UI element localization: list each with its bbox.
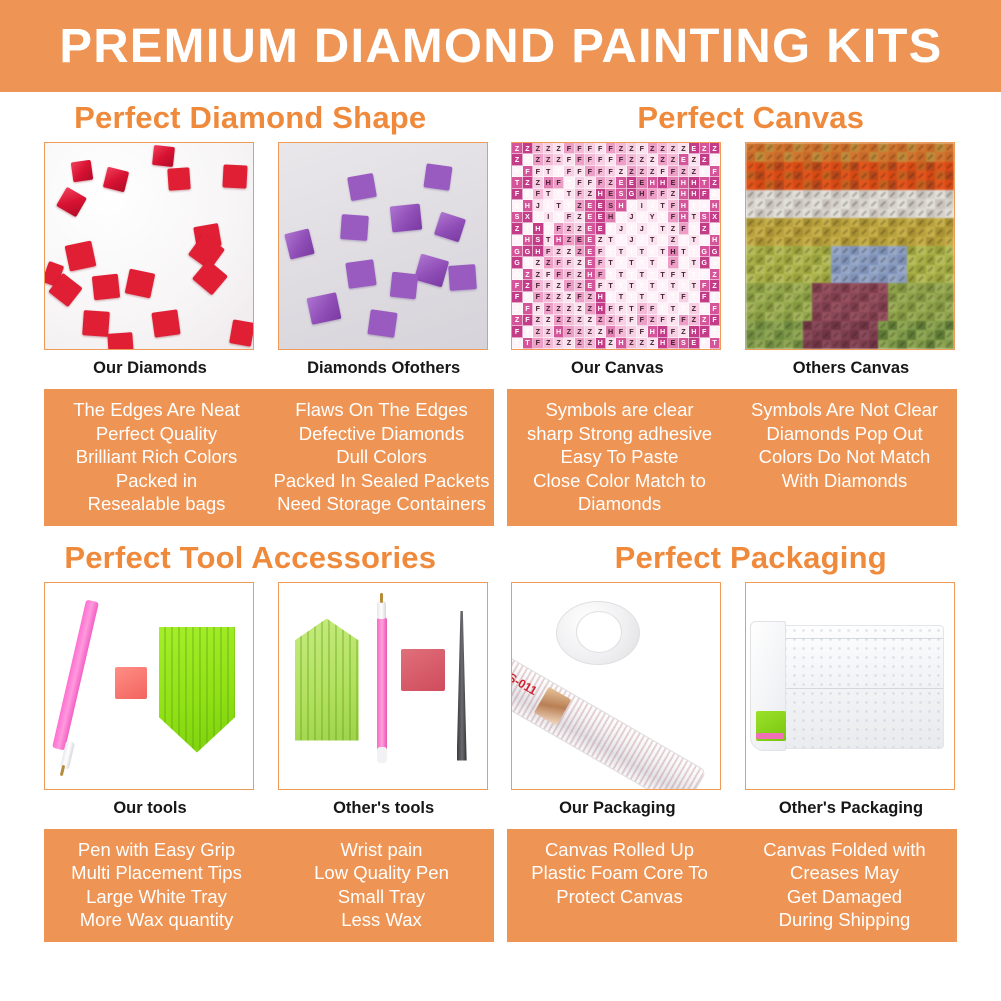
- blurry-canvas-cell: [822, 171, 831, 180]
- blurry-canvas-cell: [888, 330, 897, 339]
- folded-contents-pen: [756, 733, 784, 739]
- blurry-canvas-cell: [945, 321, 954, 330]
- canvas-symbol-cell: F: [523, 315, 533, 326]
- canvas-symbol-cell: E: [585, 200, 595, 211]
- comparison-images-row-2: Our tools Other's tools S-011 Our Packa: [0, 582, 1001, 818]
- blurry-canvas-cell: [746, 237, 755, 246]
- panel-line: Diamonds Pop Out: [734, 422, 955, 446]
- canvas-symbol-cell: F: [564, 143, 574, 154]
- canvas-symbol-cell: F: [596, 177, 606, 188]
- canvas-symbol-cell: Z: [544, 315, 554, 326]
- bubble-mailer-envelope: [762, 625, 944, 749]
- canvas-symbol-cell: Z: [512, 223, 522, 234]
- blurry-canvas-cell: [822, 152, 831, 161]
- blurry-canvas-cell: [907, 302, 916, 311]
- blurry-canvas-cell: [793, 274, 802, 283]
- canvas-symbol-cell: H: [554, 326, 564, 337]
- card-other-tools: Other's tools: [278, 582, 490, 818]
- canvas-symbol-cell: F: [637, 143, 647, 154]
- bubble-wrap-texture: [763, 626, 943, 748]
- canvas-symbol-cell: Z: [554, 154, 564, 165]
- canvas-symbol-cell: Z: [658, 154, 668, 165]
- canvas-symbol-cell: T: [554, 166, 564, 177]
- canvas-symbol-cell: Z: [544, 257, 554, 268]
- blurry-canvas-cell: [869, 283, 878, 292]
- blurry-canvas-cell: [793, 171, 802, 180]
- blurry-canvas-cell: [945, 255, 954, 264]
- canvas-symbol-cell: H: [606, 326, 616, 337]
- blurry-canvas-cell: [888, 227, 897, 236]
- blurry-canvas-cell: [793, 162, 802, 171]
- panel-line: Multi Placement Tips: [46, 861, 267, 885]
- canvas-symbol-cell: Z: [668, 143, 678, 154]
- canvas-symbol-cell: Z: [512, 315, 522, 326]
- canvas-symbol-cell: Z: [544, 154, 554, 165]
- canvas-symbol-cell: E: [627, 177, 637, 188]
- canvas-symbol-cell: J: [627, 235, 637, 246]
- blurry-canvas-cell: [878, 255, 887, 264]
- canvas-symbol-cell: Z: [689, 315, 699, 326]
- blurry-canvas-cell: [869, 227, 878, 236]
- canvas-symbol-cell: Z: [627, 143, 637, 154]
- blurry-canvas-cell: [935, 190, 944, 199]
- canvas-symbol-cell: Z: [606, 177, 616, 188]
- blurry-canvas-cell: [869, 321, 878, 330]
- blurry-canvas-cell: [765, 143, 774, 152]
- blurry-canvas-cell: [812, 255, 821, 264]
- page-header-banner: PREMIUM DIAMOND PAINTING KITS: [0, 0, 1001, 92]
- canvas-symbol-cell: E: [585, 235, 595, 246]
- blurry-canvas-cell: [755, 321, 764, 330]
- blurry-canvas-cell: [916, 152, 925, 161]
- blurry-canvas-cell: [859, 330, 868, 339]
- canvas-symbol-cell: H: [585, 269, 595, 280]
- blurry-canvas-cell: [897, 199, 906, 208]
- blurry-canvas-cell: [755, 246, 764, 255]
- canvas-symbol-cell: T: [544, 235, 554, 246]
- canvas-symbol-cell: Z: [554, 292, 564, 303]
- blurry-canvas-cell: [765, 302, 774, 311]
- canvas-symbol-cell: Z: [710, 143, 720, 154]
- canvas-symbol-cell: E: [585, 212, 595, 223]
- blurry-canvas-cell: [907, 321, 916, 330]
- canvas-symbol-cell: F: [627, 326, 637, 337]
- canvas-symbol-cell: Z: [627, 338, 637, 349]
- blurry-canvas-cell: [793, 209, 802, 218]
- canvas-symbol-cell: H: [596, 292, 606, 303]
- blurry-canvas-cell: [859, 293, 868, 302]
- canvas-symbol-cell: T: [689, 292, 699, 303]
- blurry-canvas-cell: [765, 227, 774, 236]
- blurry-canvas-cell: [878, 171, 887, 180]
- section-title-tool-accessories: Perfect Tool Accessories: [0, 540, 501, 576]
- blurry-canvas-cell: [859, 209, 868, 218]
- blurry-canvas-cell: [793, 190, 802, 199]
- canvas-symbol-cell: T: [616, 269, 626, 280]
- blurry-canvas-cell: [926, 274, 935, 283]
- canvas-symbol-cell: T: [606, 269, 616, 280]
- canvas-symbol-cell: Z: [554, 303, 564, 314]
- blurry-canvas-cell: [841, 218, 850, 227]
- panel-packaging: Canvas Rolled UpPlastic Foam Core ToProt…: [507, 829, 957, 942]
- canvas-symbol-cell: F: [564, 154, 574, 165]
- canvas-symbol-cell: F: [616, 326, 626, 337]
- blurry-canvas-cell: [812, 237, 821, 246]
- canvas-symbol-cell: F: [596, 246, 606, 257]
- panel-line: With Diamonds: [734, 469, 955, 493]
- blurry-canvas-cell: [841, 274, 850, 283]
- canvas-symbol-cell: T: [616, 292, 626, 303]
- blurry-canvas-cell: [878, 321, 887, 330]
- canvas-symbol-cell: Z: [596, 326, 606, 337]
- canvas-symbol-cell: Z: [710, 269, 720, 280]
- canvas-symbol-cell: F: [606, 166, 616, 177]
- canvas-symbol-cell: Z: [648, 315, 658, 326]
- blurry-canvas-cell: [803, 302, 812, 311]
- blurry-canvas-cell: [850, 274, 859, 283]
- blurry-canvas-cell: [907, 180, 916, 189]
- canvas-symbol-cell: T: [637, 280, 647, 291]
- canvas-symbol-cell: E: [585, 280, 595, 291]
- canvas-symbol-cell: G: [512, 246, 522, 257]
- canvas-symbol-cell: Z: [575, 246, 585, 257]
- blurry-canvas-cell: [822, 255, 831, 264]
- canvas-symbol-cell: I: [544, 212, 554, 223]
- canvas-symbol-cell: T: [710, 338, 720, 349]
- blurry-canvas-cell: [812, 190, 821, 199]
- diamond-drill: [347, 173, 377, 201]
- canvas-symbol-cell: F: [544, 280, 554, 291]
- canvas-symbol-cell: G: [710, 246, 720, 257]
- canvas-symbol-cell: T: [627, 280, 637, 291]
- blurry-canvas-cell: [888, 171, 897, 180]
- blurry-canvas-cell: [831, 180, 840, 189]
- canvas-symbol-cell: T: [512, 235, 522, 246]
- panel-line: Defective Diamonds: [271, 422, 492, 446]
- canvas-symbol-cell: F: [564, 166, 574, 177]
- canvas-symbol-cell: Z: [700, 303, 710, 314]
- blurry-canvas-cell: [935, 312, 944, 321]
- blurry-canvas-cell: [822, 283, 831, 292]
- canvas-symbol-cell: E: [596, 200, 606, 211]
- blurry-canvas-cell: [765, 246, 774, 255]
- canvas-symbol-cell: T: [606, 235, 616, 246]
- canvas-symbol-cell: Y: [648, 212, 658, 223]
- blurry-canvas-cell: [935, 152, 944, 161]
- canvas-symbol-cell: G: [523, 246, 533, 257]
- canvas-symbol-cell: E: [689, 338, 699, 349]
- panel-line: Protect Canvas: [509, 885, 730, 909]
- blurry-canvas-cell: [888, 265, 897, 274]
- blurry-canvas-cell: [869, 312, 878, 321]
- blurry-canvas-cell: [812, 152, 821, 161]
- pink-drill-pen: [52, 599, 99, 750]
- blurry-canvas-cell: [841, 330, 850, 339]
- blurry-canvas-cell: [907, 218, 916, 227]
- canvas-symbol-cell: F: [512, 189, 522, 200]
- canvas-symbol-cell: Z: [554, 338, 564, 349]
- canvas-symbol-cell: F: [554, 223, 564, 234]
- canvas-symbol-cell: F: [710, 315, 720, 326]
- canvas-symbol-cell: F: [668, 212, 678, 223]
- blurry-canvas-cell: [935, 143, 944, 152]
- blurry-canvas-cell: [897, 143, 906, 152]
- canvas-symbol-cell: T: [627, 246, 637, 257]
- diamond-drill: [151, 309, 180, 337]
- blurry-canvas-cell: [822, 312, 831, 321]
- canvas-symbol-cell: H: [689, 177, 699, 188]
- blurry-canvas-cell: [822, 330, 831, 339]
- blurry-canvas-cell: [926, 180, 935, 189]
- blurry-canvas-cell: [774, 274, 783, 283]
- blurry-canvas-cell: [859, 302, 868, 311]
- canvas-symbol-cell: Z: [585, 326, 595, 337]
- blurry-canvas-cell: [907, 199, 916, 208]
- blurry-canvas-cell: [850, 209, 859, 218]
- canvas-symbol-cell: Z: [668, 235, 678, 246]
- pen-cap: [377, 747, 387, 763]
- canvas-symbol-cell: Z: [544, 292, 554, 303]
- canvas-symbol-cell: T: [637, 269, 647, 280]
- canvas-symbol-cell: F: [627, 315, 637, 326]
- blurry-canvas-cell: [831, 162, 840, 171]
- canvas-symbol-cell: F: [596, 269, 606, 280]
- canvas-symbol-cell: T: [679, 280, 689, 291]
- blurry-canvas-cell: [793, 265, 802, 274]
- blurry-canvas-cell: [774, 302, 783, 311]
- canvas-symbol-cell: T: [564, 189, 574, 200]
- section-title-packaging: Perfect Packaging: [501, 540, 1001, 576]
- diamond-drill: [71, 160, 94, 183]
- blurry-canvas-cell: [897, 265, 906, 274]
- blurry-canvas-cell: [888, 143, 897, 152]
- canvas-symbol-cell: F: [700, 326, 710, 337]
- canvas-symbol-cell: Z: [533, 177, 543, 188]
- blurry-canvas-cell: [812, 321, 821, 330]
- canvas-symbol-cell: H: [710, 200, 720, 211]
- canvas-symbol-cell: H: [689, 326, 699, 337]
- canvas-symbol-cell: Y: [627, 200, 637, 211]
- panel-line: Creases May: [734, 861, 955, 885]
- panel-line: The Edges Are Neat: [46, 398, 267, 422]
- canvas-symbol-cell: E: [523, 189, 533, 200]
- canvas-symbol-cell: J: [637, 223, 647, 234]
- blurry-canvas-cell: [765, 330, 774, 339]
- blurry-canvas-cell: [831, 274, 840, 283]
- canvas-symbol-cell: H: [616, 338, 626, 349]
- canvas-symbol-cell: Z: [596, 315, 606, 326]
- card-caption: Other's tools: [278, 799, 490, 818]
- canvas-symbol-cell: T: [523, 326, 533, 337]
- canvas-symbol-cell: Z: [554, 143, 564, 154]
- blurry-canvas-cell: [803, 218, 812, 227]
- blurry-canvas-cell: [897, 180, 906, 189]
- blurry-canvas-cell: [850, 265, 859, 274]
- blurry-canvas-cell: [765, 171, 774, 180]
- canvas-symbol-cell: Z: [585, 338, 595, 349]
- blurry-canvas-cell: [812, 274, 821, 283]
- blurry-canvas-cell: [746, 171, 755, 180]
- panel-right-list: Symbols Are Not ClearDiamonds Pop OutCol…: [732, 398, 957, 516]
- canvas-symbol-cell: T: [689, 269, 699, 280]
- blurry-canvas-cell: [850, 246, 859, 255]
- blurry-canvas-cell: [812, 143, 821, 152]
- canvas-symbol-cell: E: [596, 212, 606, 223]
- blurry-canvas-cell: [803, 171, 812, 180]
- panel-left-list: Symbols are clearsharp Strong adhesiveEa…: [507, 398, 732, 516]
- blurry-canvas-cell: [945, 302, 954, 311]
- canvas-symbol-cell: T: [658, 280, 668, 291]
- panel-left-list: Canvas Rolled UpPlastic Foam Core ToProt…: [507, 838, 732, 932]
- blurry-canvas-cell: [859, 162, 868, 171]
- canvas-symbol-cell: Z: [533, 326, 543, 337]
- canvas-symbol-cell: Z: [512, 154, 522, 165]
- blurry-canvas-cell: [793, 321, 802, 330]
- canvas-symbol-cell: H: [679, 200, 689, 211]
- blurry-canvas-cell: [878, 199, 887, 208]
- blurry-canvas-cell: [897, 255, 906, 264]
- canvas-symbol-cell: Z: [710, 154, 720, 165]
- canvas-symbol-cell: Z: [585, 292, 595, 303]
- green-tray-pen-wax-tweezers-photo: [278, 582, 488, 790]
- blurry-canvas-cell: [935, 340, 944, 349]
- blurry-canvas-cell: [755, 218, 764, 227]
- blurry-canvas-cell: [850, 199, 859, 208]
- panel-line: Packed in: [46, 469, 267, 493]
- canvas-symbol-cell: H: [658, 177, 668, 188]
- canvas-symbol-cell: Z: [668, 189, 678, 200]
- blurry-canvas-cell: [926, 190, 935, 199]
- blurry-canvas-cell: [888, 302, 897, 311]
- blurry-canvas-cell: [945, 218, 954, 227]
- blurry-canvas-cell: [784, 209, 793, 218]
- blurry-canvas-cell: [907, 246, 916, 255]
- canvas-symbol-cell: T: [564, 177, 574, 188]
- blurry-canvas-cell: [755, 283, 764, 292]
- canvas-symbol-cell: T: [689, 212, 699, 223]
- canvas-symbol-cell: J: [648, 223, 658, 234]
- blurry-canvas-cell: [916, 302, 925, 311]
- blurry-canvas-cell: [755, 190, 764, 199]
- blurry-canvas-cell: [926, 143, 935, 152]
- canvas-symbol-grid: ZZZZZFFFFFZZFZZZZEZZZZZZZFFFFFFZZZZZEZZZ…: [512, 143, 720, 349]
- blurry-canvas-cell: [793, 237, 802, 246]
- blurry-canvas-cell: [916, 218, 925, 227]
- blurry-canvas-cell: [888, 340, 897, 349]
- blurry-canvas-cell: [907, 227, 916, 236]
- pen-needle: [380, 593, 383, 603]
- canvas-symbol-cell: T: [658, 303, 668, 314]
- blurry-canvas-cell: [784, 227, 793, 236]
- blurry-canvas-cell: [746, 321, 755, 330]
- blurry-canvas-cell: [907, 293, 916, 302]
- blurry-canvas-cell: [850, 171, 859, 180]
- canvas-symbol-cell: F: [533, 338, 543, 349]
- blurry-color-canvas-photo: [745, 142, 955, 350]
- card-caption: Our Diamonds: [44, 359, 256, 378]
- blurry-canvas-cell: [926, 246, 935, 255]
- canvas-symbol-cell: F: [668, 257, 678, 268]
- blurry-canvas-cell: [869, 171, 878, 180]
- canvas-symbol-cell: Z: [700, 143, 710, 154]
- blurry-canvas-cell: [755, 209, 764, 218]
- blurry-canvas-cell: [803, 209, 812, 218]
- blurry-canvas-cell: [935, 246, 944, 255]
- blurry-canvas-cell: [831, 143, 840, 152]
- blurry-canvas-cell: [859, 180, 868, 189]
- blurry-canvas-cell: [755, 143, 764, 152]
- blurry-canvas-cell: [765, 255, 774, 264]
- blurry-canvas-cell: [869, 246, 878, 255]
- canvas-symbol-cell: F: [564, 257, 574, 268]
- canvas-symbol-cell: G: [512, 257, 522, 268]
- blurry-canvas-cell: [897, 321, 906, 330]
- blurry-canvas-cell: [746, 162, 755, 171]
- blurry-canvas-cell: [850, 340, 859, 349]
- blurry-canvas-cell: [926, 340, 935, 349]
- blurry-canvas-cell: [878, 312, 887, 321]
- blurry-canvas-cell: [784, 162, 793, 171]
- canvas-symbol-cell: F: [575, 143, 585, 154]
- canvas-symbol-cell: Z: [523, 143, 533, 154]
- canvas-symbol-cell: F: [585, 154, 595, 165]
- canvas-symbol-cell: T: [616, 246, 626, 257]
- white-bubble-mailer-photo: [745, 582, 955, 790]
- canvas-symbol-cell: F: [575, 177, 585, 188]
- canvas-symbol-cell: F: [658, 315, 668, 326]
- canvas-symbol-cell: Z: [533, 143, 543, 154]
- blurry-canvas-cell: [803, 227, 812, 236]
- canvas-symbol-cell: T: [627, 269, 637, 280]
- blurry-canvas-cell: [784, 340, 793, 349]
- blurry-canvas-cell: [765, 209, 774, 218]
- blurry-canvas-cell: [784, 171, 793, 180]
- canvas-symbol-cell: T: [627, 292, 637, 303]
- tweezers: [457, 611, 467, 761]
- panel-canvas: Symbols are clearsharp Strong adhesiveEa…: [507, 389, 957, 526]
- blurry-canvas-cell: [831, 246, 840, 255]
- canvas-symbol-cell: Z: [575, 315, 585, 326]
- canvas-symbol-cell: T: [606, 292, 616, 303]
- panel-line: Large White Tray: [46, 885, 267, 909]
- canvas-symbol-cell: H: [554, 235, 564, 246]
- canvas-symbol-cell: F: [668, 269, 678, 280]
- canvas-symbol-cell: S: [523, 257, 533, 268]
- blurry-canvas-cell: [803, 199, 812, 208]
- blurry-canvas-cell: [869, 274, 878, 283]
- blurry-canvas-cell: [765, 265, 774, 274]
- canvas-symbol-cell: T: [616, 235, 626, 246]
- canvas-symbol-cell: Z: [585, 303, 595, 314]
- canvas-symbol-cell: T: [689, 257, 699, 268]
- blurry-canvas-cell: [916, 283, 925, 292]
- green-drill-tray: [295, 619, 359, 741]
- blurry-canvas-cell: [784, 190, 793, 199]
- blurry-canvas-cell: [897, 152, 906, 161]
- canvas-symbol-cell: T: [648, 235, 658, 246]
- blurry-canvas-cell: [793, 227, 802, 236]
- canvas-symbol-cell: T: [637, 257, 647, 268]
- blurry-canvas-cell: [926, 330, 935, 339]
- canvas-symbol-cell: G: [700, 246, 710, 257]
- canvas-symbol-cell: H: [533, 223, 543, 234]
- blurry-canvas-cell: [784, 283, 793, 292]
- canvas-symbol-cell: G: [700, 257, 710, 268]
- blurry-canvas-cell: [784, 237, 793, 246]
- panel-line: Colors Do Not Match: [734, 445, 955, 469]
- diamond-drill: [229, 319, 254, 346]
- canvas-symbol-cell: Z: [658, 143, 668, 154]
